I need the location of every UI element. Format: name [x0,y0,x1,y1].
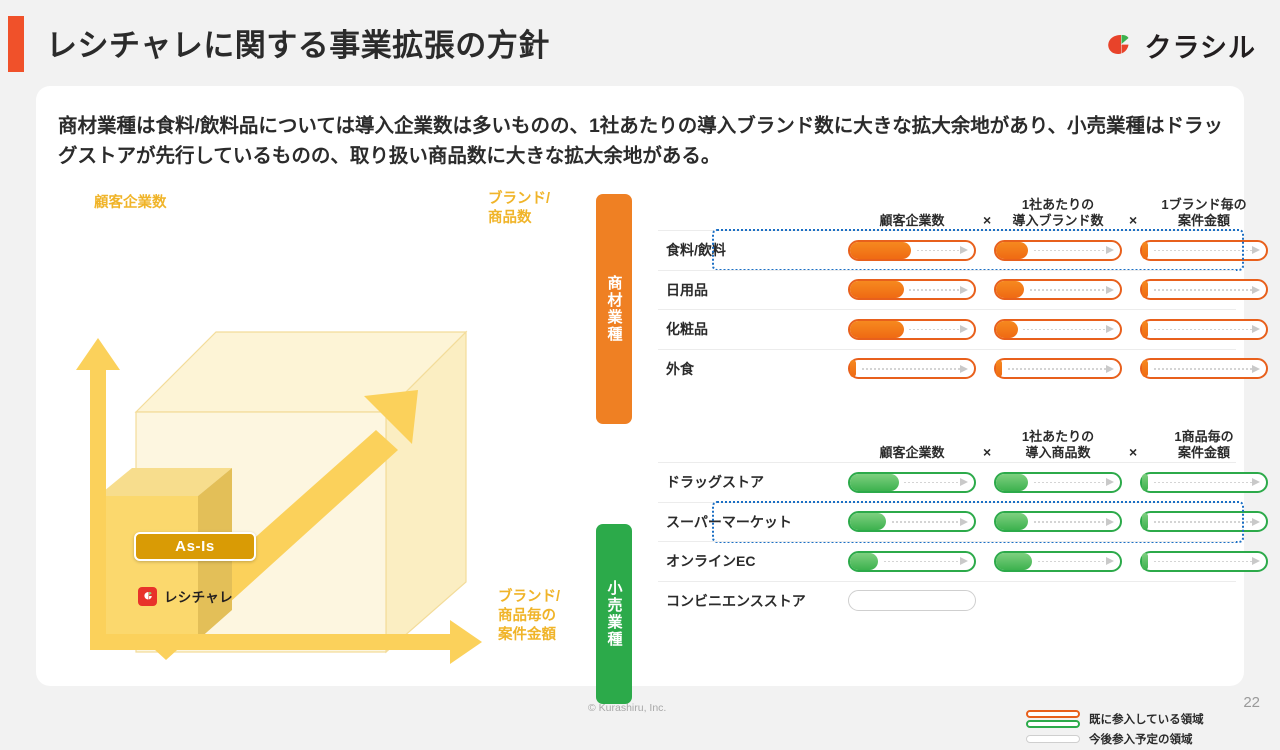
progress-fill [850,360,856,377]
column-header-2-line1: 1社あたりの [994,429,1122,446]
progress-fill [850,242,911,259]
growth-cube-diagram: 顧客企業数 ブランド/ 商品数 ブランド/ 商品毎の 案件金額 As-Is [46,182,586,672]
progress-track [848,590,976,611]
progress-bar [1140,279,1268,300]
panel-kouri: 小売業種 顧客企業数 × 1社あたりの 導入商品数 × 1商品毎の 案件金額 ド… [596,414,1236,620]
progress-bar [994,319,1122,340]
progress-bar [848,240,976,261]
column-header-1-line2: 顧客企業数 [848,445,976,462]
progress-bar [848,358,976,379]
growth-arrow-icon [862,365,968,373]
growth-arrow-icon [1154,365,1260,373]
growth-arrow-icon [909,325,968,333]
table-row: 日用品 [658,270,1236,310]
progress-fill [850,281,904,298]
progress-bar [1140,319,1268,340]
progress-bar [1140,551,1268,572]
axis-label-z: ブランド/ 商品数 [488,190,550,228]
row-label: オンラインEC [666,551,755,571]
growth-arrow-icon [1023,325,1114,333]
row-label: 日用品 [666,280,708,300]
progress-bar [994,551,1122,572]
progress-fill [1142,553,1148,570]
progress-fill [1142,474,1148,491]
row-label: 外食 [666,359,694,379]
table-row: 食料/飲料 [658,230,1236,270]
column-header-2: 1社あたりの 導入商品数 [994,429,1122,462]
legend-label: 今後参入予定の領域 [1089,731,1193,747]
axis-label-x-line2: 商品毎の [498,607,560,626]
column-header-2-line2: 導入ブランド数 [994,213,1122,230]
progress-fill [850,513,886,530]
column-header-3-line1: 1ブランド毎の [1140,197,1268,214]
panel-rows-shozai: 食料/飲料日用品化粧品外食 [658,230,1236,388]
column-header-1: 顧客企業数 [848,213,976,230]
progress-bar [848,472,976,493]
as-is-badge: As-Is [134,532,256,561]
progress-fill [1142,360,1148,377]
brand-logo: クラシル [1101,26,1256,65]
progress-fill [996,360,1002,377]
progress-bar [1140,358,1268,379]
progress-fill [1142,321,1148,338]
accent-bar [8,16,24,72]
slide: レシチャレに関する事業拡張の方針 クラシル 商材業種は食料/飲料品については導入… [0,0,1280,720]
progress-bar [994,472,1122,493]
growth-arrow-icon [1154,286,1260,294]
growth-arrow-icon [1154,518,1260,526]
progress-fill [1142,513,1148,530]
axis-label-x-line1: ブランド/ [498,588,560,607]
panel-headers-kouri: 顧客企業数 × 1社あたりの 導入商品数 × 1商品毎の 案件金額 [658,414,1236,462]
brand-name: クラシル [1145,26,1256,65]
column-header-2-line2: 導入商品数 [994,445,1122,462]
progress-bar [994,240,1122,261]
legend-label: 既に参入している領域 [1089,711,1204,727]
progress-fill [996,242,1028,259]
column-header-2-line1: 1社あたりの [994,197,1122,214]
legend-swatch-green [1026,720,1080,728]
operator-1: × [983,444,991,460]
legend-swatches [1026,735,1080,743]
progress-bar [994,279,1122,300]
growth-arrow-icon [1034,518,1114,526]
content-card: 商材業種は食料/飲料品については導入企業数は多いものの、1社あたりの導入ブランド… [36,86,1244,686]
progress-fill [996,321,1018,338]
progress-bar [1140,511,1268,532]
copyright: © Kurashiru, Inc. [588,702,666,714]
column-header-3: 1商品毎の 案件金額 [1140,429,1268,462]
panel-shozai: 商材業種 顧客企業数 × 1社あたりの 導入ブランド数 × 1ブランド毎の 案件… [596,182,1236,388]
progress-fill [850,321,904,338]
progress-bar [848,319,976,340]
row-label: ドラッグストア [666,472,764,492]
row-label: コンビニエンスストア [666,591,806,611]
growth-arrow-icon [1154,478,1260,486]
table-row: オンラインEC [658,541,1236,581]
column-header-3-line1: 1商品毎の [1140,429,1268,446]
lead-paragraph: 商材業種は食料/飲料品については導入企業数は多いものの、1社あたりの導入ブランド… [58,112,1226,171]
kurashiru-tomato-icon [1101,26,1135,65]
table-row: スーパーマーケット [658,502,1236,542]
column-header-3-line2: 案件金額 [1140,445,1268,462]
growth-arrow-icon [1154,325,1260,333]
operator-1: × [983,212,991,228]
operator-2: × [1129,444,1137,460]
column-header-1: 顧客企業数 [848,445,976,462]
table-row: 外食 [658,349,1236,389]
progress-bar [848,511,976,532]
growth-arrow-icon [1034,246,1114,254]
product-tag: レシチャレ [138,586,233,606]
growth-arrow-icon [1154,246,1260,254]
progress-bar [1140,472,1268,493]
axis-label-z-line1: ブランド/ [488,190,550,209]
panel-rows-kouri: ドラッグストアスーパーマーケットオンラインECコンビニエンスストア [658,462,1236,620]
progress-fill [850,553,878,570]
table-row: コンビニエンスストア [658,581,1236,621]
page-title: レシチャレに関する事業拡張の方針 [46,20,550,65]
panel-tab-shozai: 商材業種 [596,194,632,424]
progress-bar [1140,240,1268,261]
legend-item: 今後参入予定の領域 [1026,731,1256,747]
growth-arrow-icon [1008,365,1114,373]
progress-bar [994,358,1122,379]
growth-arrow-icon [917,246,968,254]
growth-arrow-icon [904,478,968,486]
legend-swatch-gray [1026,735,1080,743]
page-number: 22 [1243,694,1260,711]
growth-arrow-icon [1034,478,1114,486]
operator-2: × [1129,212,1137,228]
legend-swatch-orange [1026,710,1080,718]
axis-label-y: 顧客企業数 [94,194,167,213]
legend-item: 既に参入している領域 [1026,710,1256,728]
progress-fill [850,474,899,491]
row-label: スーパーマーケット [666,512,792,532]
axis-label-z-line2: 商品数 [488,209,550,228]
column-header-1-line2: 顧客企業数 [848,213,976,230]
panel-headers-shozai: 顧客企業数 × 1社あたりの 導入ブランド数 × 1ブランド毎の 案件金額 [658,182,1236,230]
slide-header: レシチャレに関する事業拡張の方針 クラシル [0,0,1280,88]
progress-fill [1142,242,1148,259]
column-header-3-line2: 案件金額 [1140,213,1268,230]
progress-bar [994,511,1122,532]
row-label: 化粧品 [666,319,708,339]
progress-fill [996,513,1028,530]
progress-bar [848,279,976,300]
column-header-2: 1社あたりの 導入ブランド数 [994,197,1122,230]
row-label: 食料/飲料 [666,240,726,260]
reshichare-app-icon [138,587,157,606]
product-tag-label: レシチャレ [164,586,233,606]
growth-arrow-icon [1154,557,1260,565]
growth-arrow-icon [1030,286,1114,294]
axis-label-x: ブランド/ 商品毎の 案件金額 [498,588,560,645]
axis-label-x-line3: 案件金額 [498,626,560,645]
table-row: 化粧品 [658,309,1236,349]
growth-arrow-icon [1038,557,1114,565]
legend-swatches [1026,710,1080,728]
growth-arrow-icon [884,557,968,565]
progress-fill [1142,281,1148,298]
progress-fill [996,553,1032,570]
progress-fill [996,281,1024,298]
column-header-3: 1ブランド毎の 案件金額 [1140,197,1268,230]
progress-bar [848,551,976,572]
progress-fill [996,474,1028,491]
legend: 既に参入している領域今後参入予定の領域 [1026,710,1256,750]
progress-bar [848,590,976,611]
growth-arrow-icon [892,518,968,526]
table-row: ドラッグストア [658,462,1236,502]
growth-arrow-icon [909,286,968,294]
panel-tab-kouri: 小売業種 [596,524,632,704]
